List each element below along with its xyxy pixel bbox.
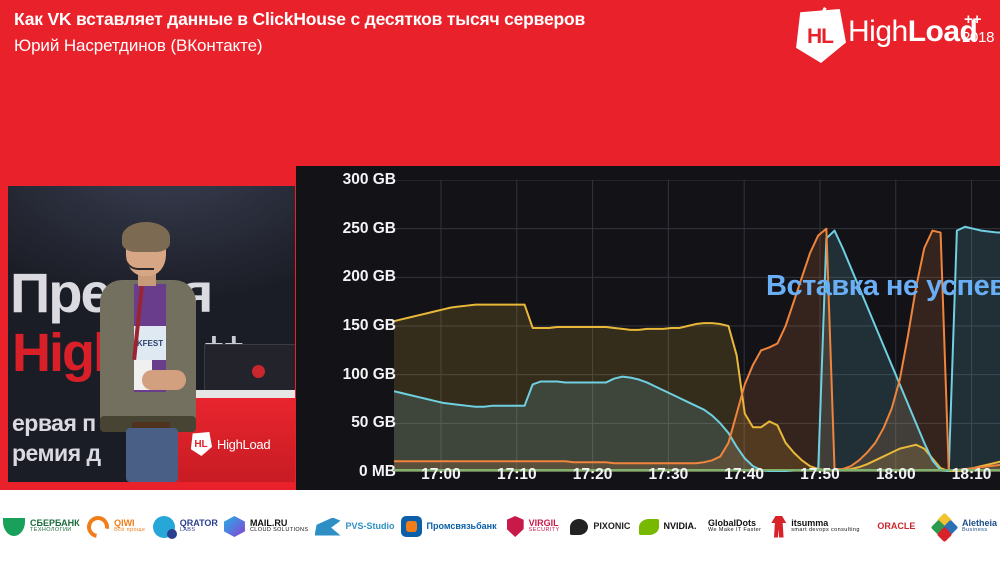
sponsor-name: MAIL.RUCLOUD SOLUTIONS (250, 519, 309, 535)
sponsor-logo: Промсвязьбанк (398, 490, 500, 563)
logo-word-high: High (848, 15, 908, 48)
logo-year: 2018 (962, 29, 994, 46)
sponsor-mark-icon (933, 515, 957, 539)
chart-annotation-text: Вставка не успевает (766, 270, 1000, 303)
sponsor-mark-icon (224, 516, 245, 537)
speaker-hair (122, 222, 170, 252)
speaker-jeans (126, 428, 178, 482)
sponsor-logo: PVS-Studio (312, 490, 398, 563)
sponsor-logo: VIRGILSECURITY (500, 490, 567, 563)
sponsor-tagline: smart devops consulting (791, 528, 860, 534)
sponsor-logo: СБЕРБАНКТЕХНОЛОГИИ (0, 490, 83, 563)
sponsor-mark-icon (153, 516, 175, 538)
sponsor-mark-icon (3, 518, 25, 536)
sponsor-logo: NVIDIA. (634, 490, 701, 563)
sponsor-name: AletheiaBusiness (962, 519, 997, 535)
slide-stage: Премия High ервая п ремия д ++ HL HighLo… (0, 80, 1000, 490)
sponsor-mark-icon (771, 516, 786, 538)
x-axis-tick-label: 17:20 (573, 466, 613, 484)
sponsor-mark-icon (83, 511, 114, 542)
highload-logo: HL HighLoad ++ 2018 (792, 5, 992, 67)
y-axis-tick-label: 150 GB (306, 317, 396, 335)
laptop-logo-icon (252, 365, 265, 378)
sponsor-name: NVIDIA. (664, 522, 697, 532)
sponsor-logo: GlobalDotsWe Make IT Faster (701, 490, 768, 563)
x-axis-tick-label: 17:10 (497, 466, 537, 484)
x-axis-tick-label: 18:00 (876, 466, 916, 484)
sponsor-logo: itsummasmart devops consulting (768, 490, 863, 563)
sponsor-name: ORACLE (877, 522, 915, 532)
x-axis-tick-label: 18:10 (952, 466, 992, 484)
chart-area-fills (394, 227, 1000, 472)
sponsor-logo: QIWIВсё проще (83, 490, 150, 563)
sponsor-name: QRATORLABS (180, 519, 218, 535)
y-axis-tick-label: 200 GB (306, 268, 396, 286)
sponsor-name: itsummasmart devops consulting (791, 519, 860, 535)
logo-wordmark: HighLoad (848, 15, 977, 49)
y-axis-tick-label: 100 GB (306, 366, 396, 384)
x-axis-tick-label: 17:40 (724, 466, 764, 484)
sponsor-logo: PIXONIC (567, 490, 634, 563)
sponsor-tagline: CLOUD SOLUTIONS (250, 528, 309, 534)
sponsor-mark-icon (507, 516, 524, 537)
sponsor-name: GlobalDotsWe Make IT Faster (708, 519, 761, 535)
y-axis-tick-label: 250 GB (306, 220, 396, 238)
headset-microphone-icon (124, 250, 154, 270)
y-axis-tick-label: 0 MB (306, 463, 396, 481)
sponsor-tagline: ТЕХНОЛОГИИ (30, 528, 80, 534)
sponsor-name: PVS-Studio (346, 522, 395, 532)
speaker-subtitle: Юрий Насретдинов (ВКонтакте) (14, 36, 263, 56)
sponsor-name: СБЕРБАНКТЕХНОЛОГИИ (30, 519, 80, 535)
chart-series-svg (394, 180, 1000, 472)
sponsor-mark-icon (315, 518, 341, 536)
sponsor-mark-icon (401, 516, 422, 537)
y-axis-tick-label: 300 GB (306, 171, 396, 189)
sponsor-logo: AletheiaBusiness (930, 490, 1000, 563)
sponsor-tagline: Всё проще (114, 528, 145, 534)
x-axis-tick-label: 17:00 (421, 466, 461, 484)
sponsor-tagline: LABS (180, 528, 218, 534)
page-title: Как VK вставляет данные в ClickHouse с д… (14, 9, 585, 30)
podium-logo-word: HighLoad (217, 437, 270, 452)
sponsor-logo: QRATORLABS (150, 490, 221, 563)
sponsor-name: PIXONIC (593, 522, 630, 532)
sponsor-mark-icon (639, 519, 659, 535)
x-axis-tick-label: 17:50 (800, 466, 840, 484)
highload-logo-mark-icon: HL (794, 9, 846, 63)
speaker-person: KFEST (86, 210, 216, 482)
chart-plot-area (394, 180, 1000, 472)
sponsor-name: Промсвязьбанк (427, 522, 497, 532)
sponsor-tagline: We Make IT Faster (708, 528, 761, 534)
logo-plusplus: ++ (964, 11, 982, 28)
sponsor-name: VIRGILSECURITY (529, 519, 560, 535)
slide-header: Как VK вставляет данные в ClickHouse с д… (0, 0, 1000, 80)
sponsor-mark-icon (570, 519, 588, 535)
sponsor-name: QIWIВсё проще (114, 519, 145, 535)
sponsor-logo: MAIL.RUCLOUD SOLUTIONS (221, 490, 312, 563)
speaker-hands (142, 370, 186, 390)
sponsor-tagline: Business (962, 528, 997, 534)
y-axis-tick-label: 50 GB (306, 414, 396, 432)
backdrop-word-3: ервая п (12, 410, 96, 437)
sponsor-logo: ORACLE (863, 490, 930, 563)
sponsor-bar: СБЕРБАНКТЕХНОЛОГИИQIWIВсё прощеQRATORLAB… (0, 490, 1000, 563)
sponsor-tagline: SECURITY (529, 528, 560, 534)
x-axis-tick-label: 17:30 (649, 466, 689, 484)
speaker-video-feed: Премия High ервая п ремия д ++ HL HighLo… (8, 186, 295, 482)
